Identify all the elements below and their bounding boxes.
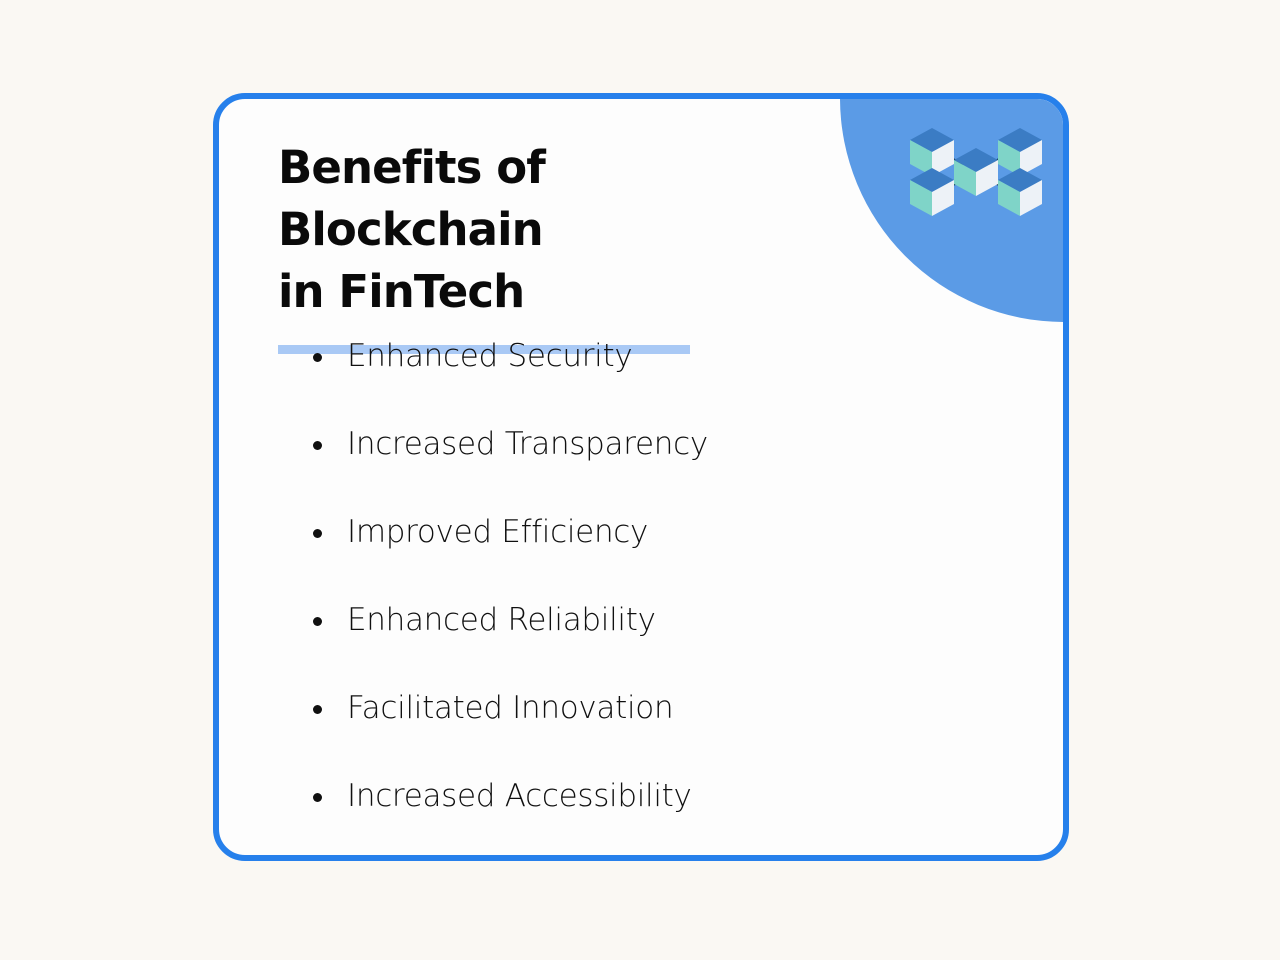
list-item: Enhanced Reliability xyxy=(307,601,967,639)
quarter-circle-shape xyxy=(840,98,1064,322)
list-item: Increased Accessibility xyxy=(307,777,967,815)
bullet-icon xyxy=(313,441,322,450)
benefits-list: Enhanced Security Increased Transparency… xyxy=(307,337,967,815)
bullet-icon xyxy=(313,705,322,714)
page-title: Benefits of Blockchain in FinTech xyxy=(278,137,798,323)
cube-connector-lines xyxy=(940,152,1012,192)
list-item-label: Enhanced Security xyxy=(347,338,632,374)
bullet-icon xyxy=(313,617,322,626)
list-item-label: Increased Accessibility xyxy=(347,778,692,814)
cube-bottom-left xyxy=(910,168,954,216)
list-item-label: Increased Transparency xyxy=(347,426,708,462)
list-item-label: Enhanced Reliability xyxy=(347,602,656,638)
list-item-label: Facilitated Innovation xyxy=(347,690,673,726)
bullet-icon xyxy=(313,793,322,802)
list-item: Increased Transparency xyxy=(307,425,967,463)
title-block: Benefits of Blockchain in FinTech xyxy=(278,137,798,354)
cube-center xyxy=(954,148,998,196)
list-item: Facilitated Innovation xyxy=(307,689,967,727)
list-item: Enhanced Security xyxy=(307,337,967,375)
blockchain-cubes-icon xyxy=(900,118,1052,230)
cube-top-right xyxy=(998,128,1042,176)
corner-decoration xyxy=(840,98,1064,322)
bullet-icon xyxy=(313,353,322,362)
bullet-icon xyxy=(313,529,322,538)
cube-bottom-right xyxy=(998,168,1042,216)
slide-card: Benefits of Blockchain in FinTech Enhanc… xyxy=(213,93,1069,861)
list-item: Improved Efficiency xyxy=(307,513,967,551)
cube-top-left xyxy=(910,128,954,176)
list-item-label: Improved Efficiency xyxy=(347,514,648,550)
